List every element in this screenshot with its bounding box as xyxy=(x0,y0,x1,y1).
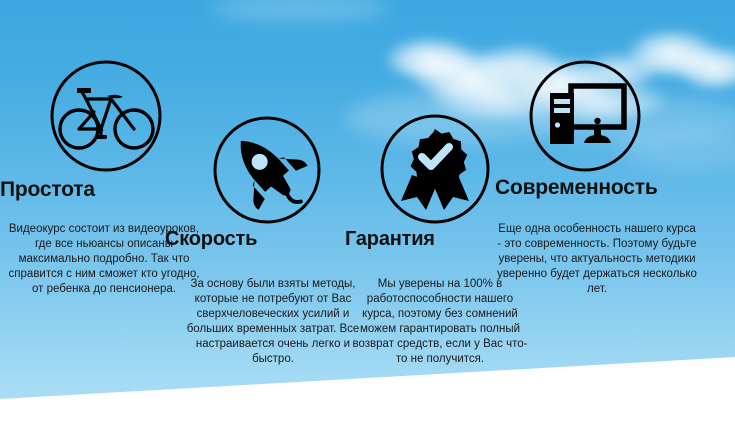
feature-body-modernity: Еще одна особенность нашего курса - это … xyxy=(497,222,697,297)
rocket-icon xyxy=(212,115,322,225)
feature-title-simplicity: Простота xyxy=(0,178,215,202)
feature-title-modernity: Современность xyxy=(495,176,735,200)
feature-body-speed: За основу были взяты методы, которые не … xyxy=(183,277,363,367)
promo-banner: Простота Видеокурс состоит из видеоуроко… xyxy=(0,0,735,430)
feature-title-guarantee: Гарантия xyxy=(345,228,520,251)
bicycle-icon xyxy=(49,59,163,173)
desktop-computer-icon xyxy=(528,59,642,173)
award-badge-icon xyxy=(379,113,491,225)
feature-title-speed: Скорость xyxy=(165,228,345,251)
